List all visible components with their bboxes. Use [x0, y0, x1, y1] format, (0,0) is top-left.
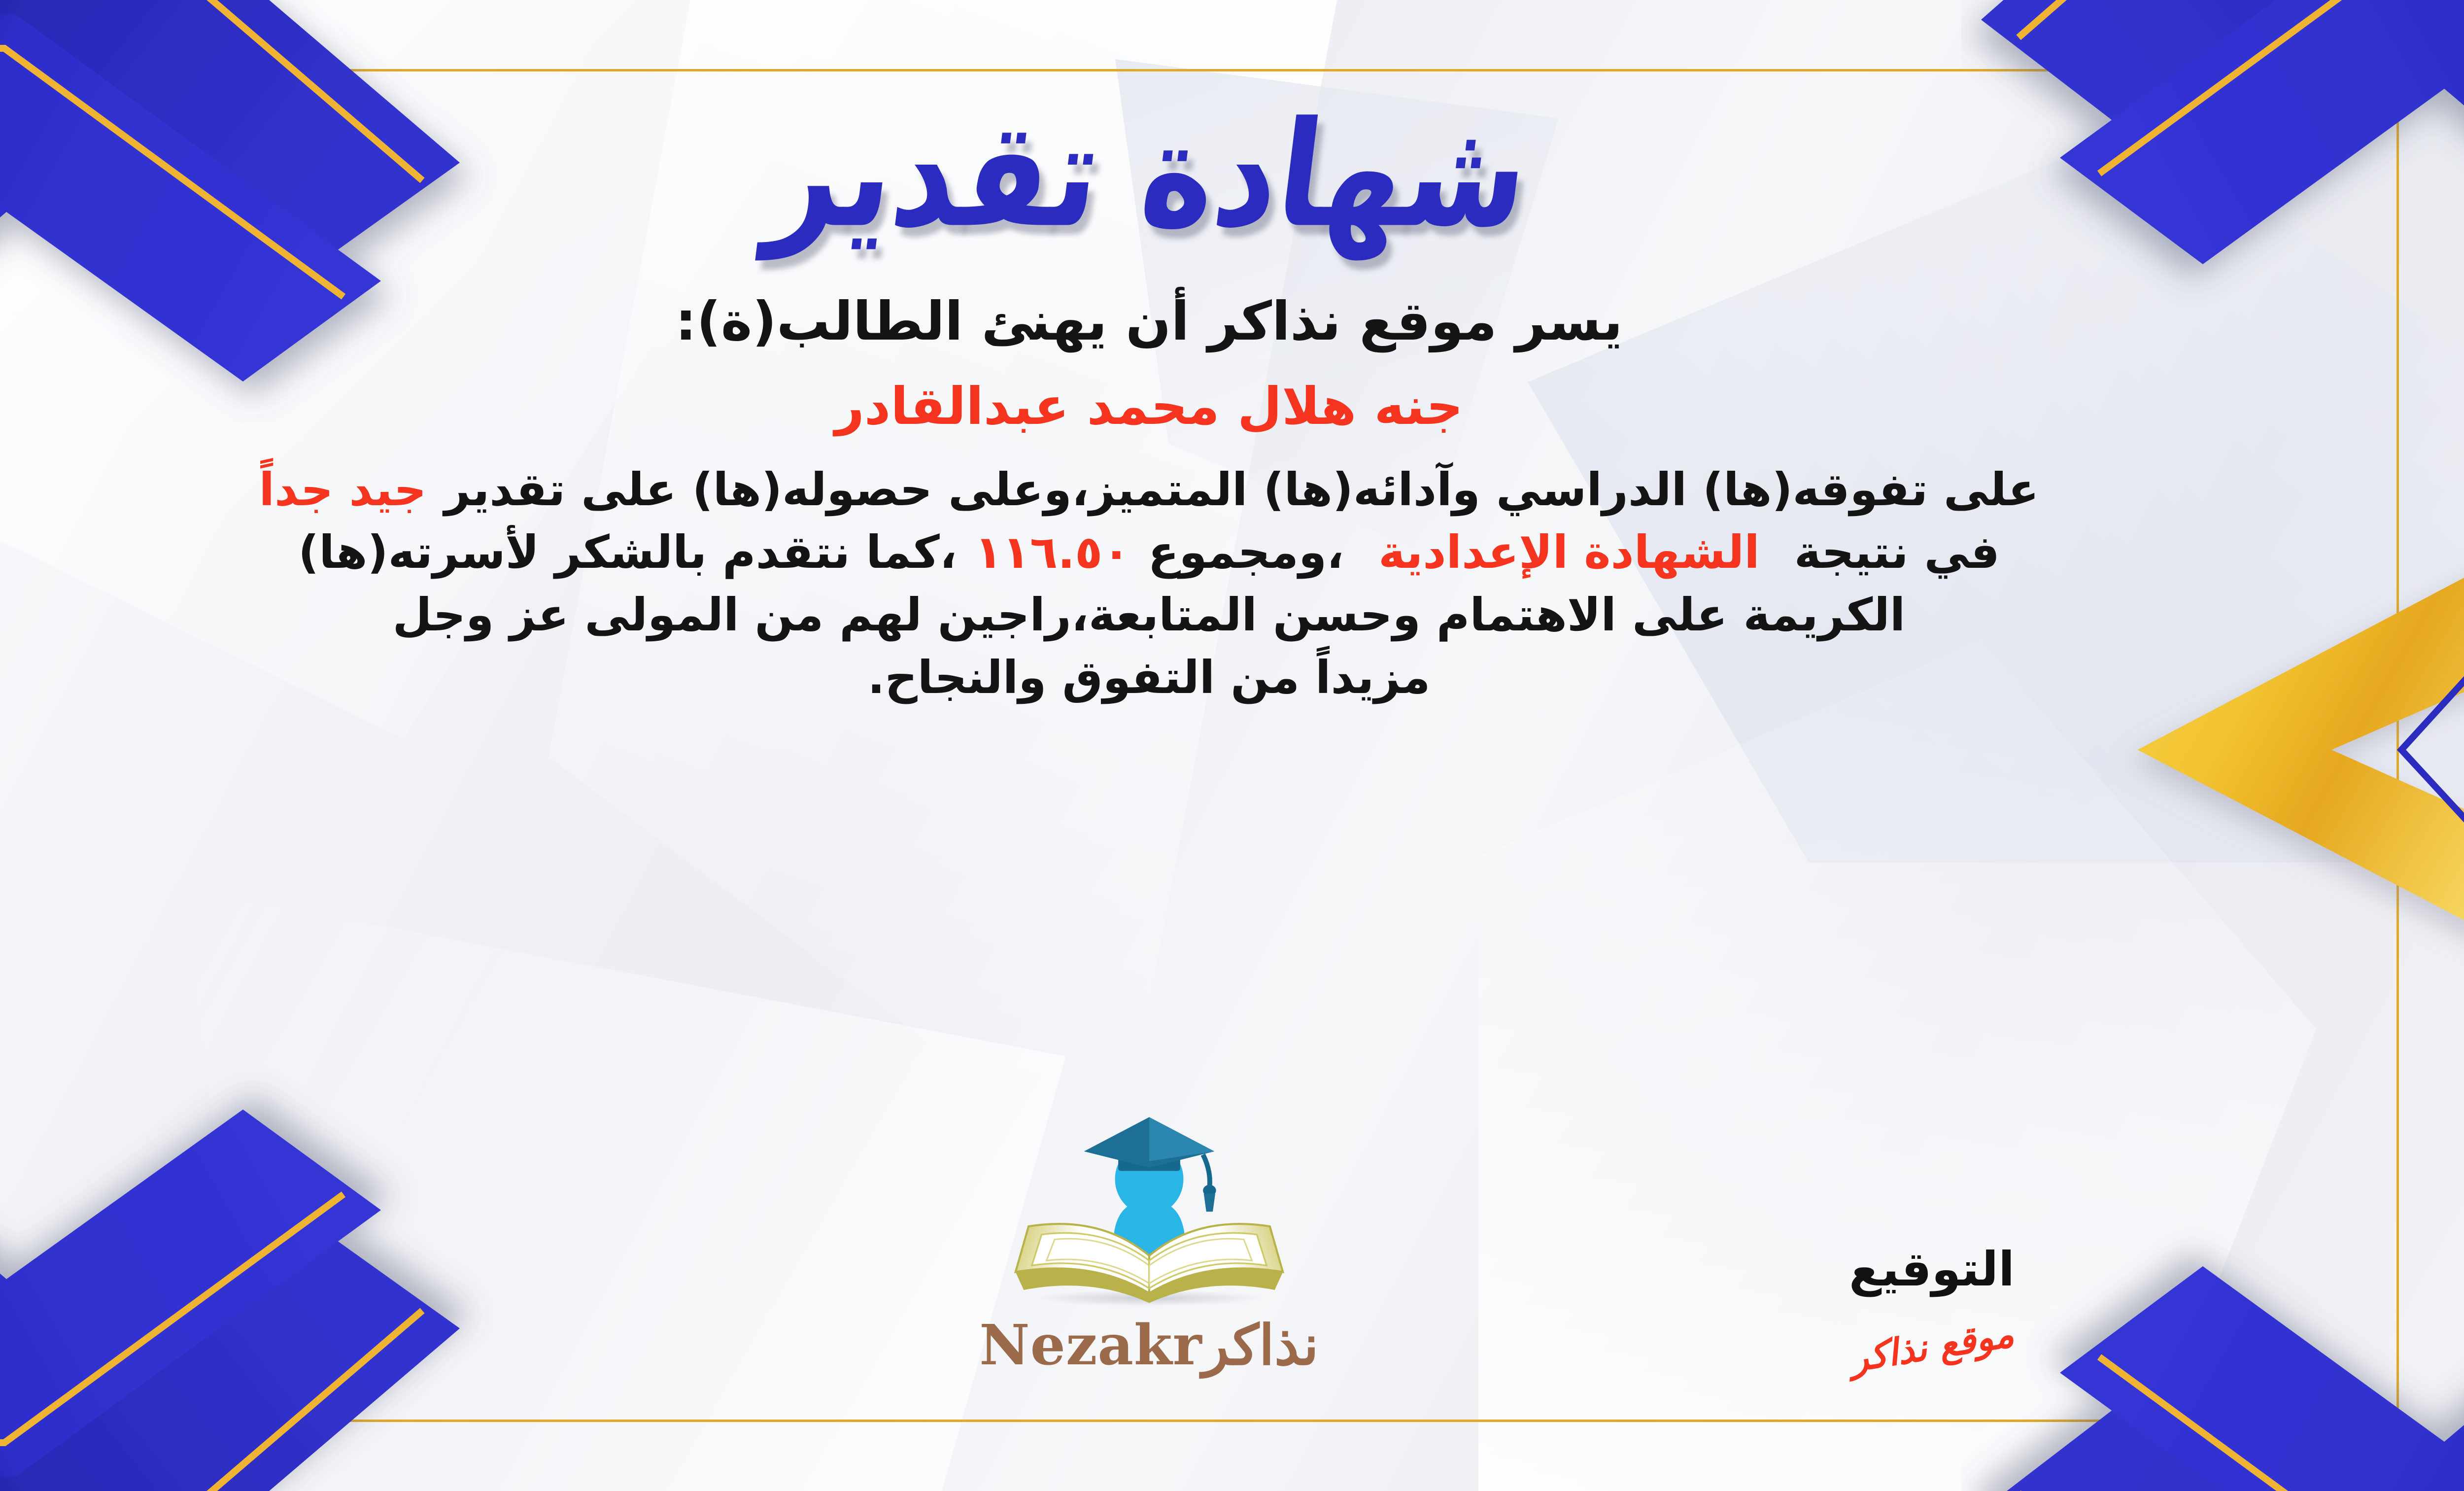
certificate-content: شهادة تقدير يسر موقع نذاكر أن يهنئ الطال…	[0, 74, 2375, 1412]
body-paragraph: على تفوقه(ها) الدراسي وآدائه(ها) المتميز…	[6, 459, 2293, 709]
graduate-book-icon	[977, 1104, 1322, 1316]
signature-block: التوقيع موقع نذاكر	[1745, 1242, 2119, 1368]
exam-name: الشهادة الإعدادية	[1378, 526, 1760, 579]
body-line-2-suffix: ،كما نتقدم بالشكر لأسرته(ها)	[298, 526, 957, 579]
nezakr-logo: نذاكرNezakr	[947, 1104, 1351, 1378]
salutation-text: يسر موقع نذاكر أن يهنئ الطالب(ة):	[675, 291, 1623, 352]
body-line-2-middle: ،ومجموع	[1148, 526, 1344, 579]
body-line-3: الكريمة على الاهتمام وحسن المتابعة،راجين…	[6, 584, 2293, 647]
student-name: جنه هلال محمد عبدالقادر	[835, 376, 1463, 436]
certificate-title: شهادة تقدير	[762, 103, 1537, 248]
grade-value: جيد جداً	[259, 463, 426, 516]
certificate-page: شهادة تقدير يسر موقع نذاكر أن يهنئ الطال…	[0, 0, 2464, 1491]
signature-script: موقع نذاكر	[1847, 1313, 2017, 1380]
signature-label: التوقيع	[1849, 1242, 2015, 1297]
certificate-title-wrap: شهادة تقدير	[0, 94, 2375, 256]
body-line-1-text: على تفوقه(ها) الدراسي وآدائه(ها) المتميز…	[444, 463, 2039, 516]
body-line-2: في نتيجةالشهادة الإعدادية،ومجموع١١٦.٥٠،ك…	[6, 521, 2293, 584]
certificate-footer: التوقيع موقع نذاكر	[0, 1062, 2375, 1397]
body-line-4: مزيداً من التفوق والنجاح.	[6, 647, 2293, 709]
logo-wordmark: نذاكرNezakr	[979, 1313, 1319, 1378]
body-line-2-prefix: في نتيجة	[1794, 526, 2000, 579]
total-score: ١١٦.٥٠	[975, 526, 1130, 579]
body-line-1: على تفوقه(ها) الدراسي وآدائه(ها) المتميز…	[6, 459, 2293, 521]
